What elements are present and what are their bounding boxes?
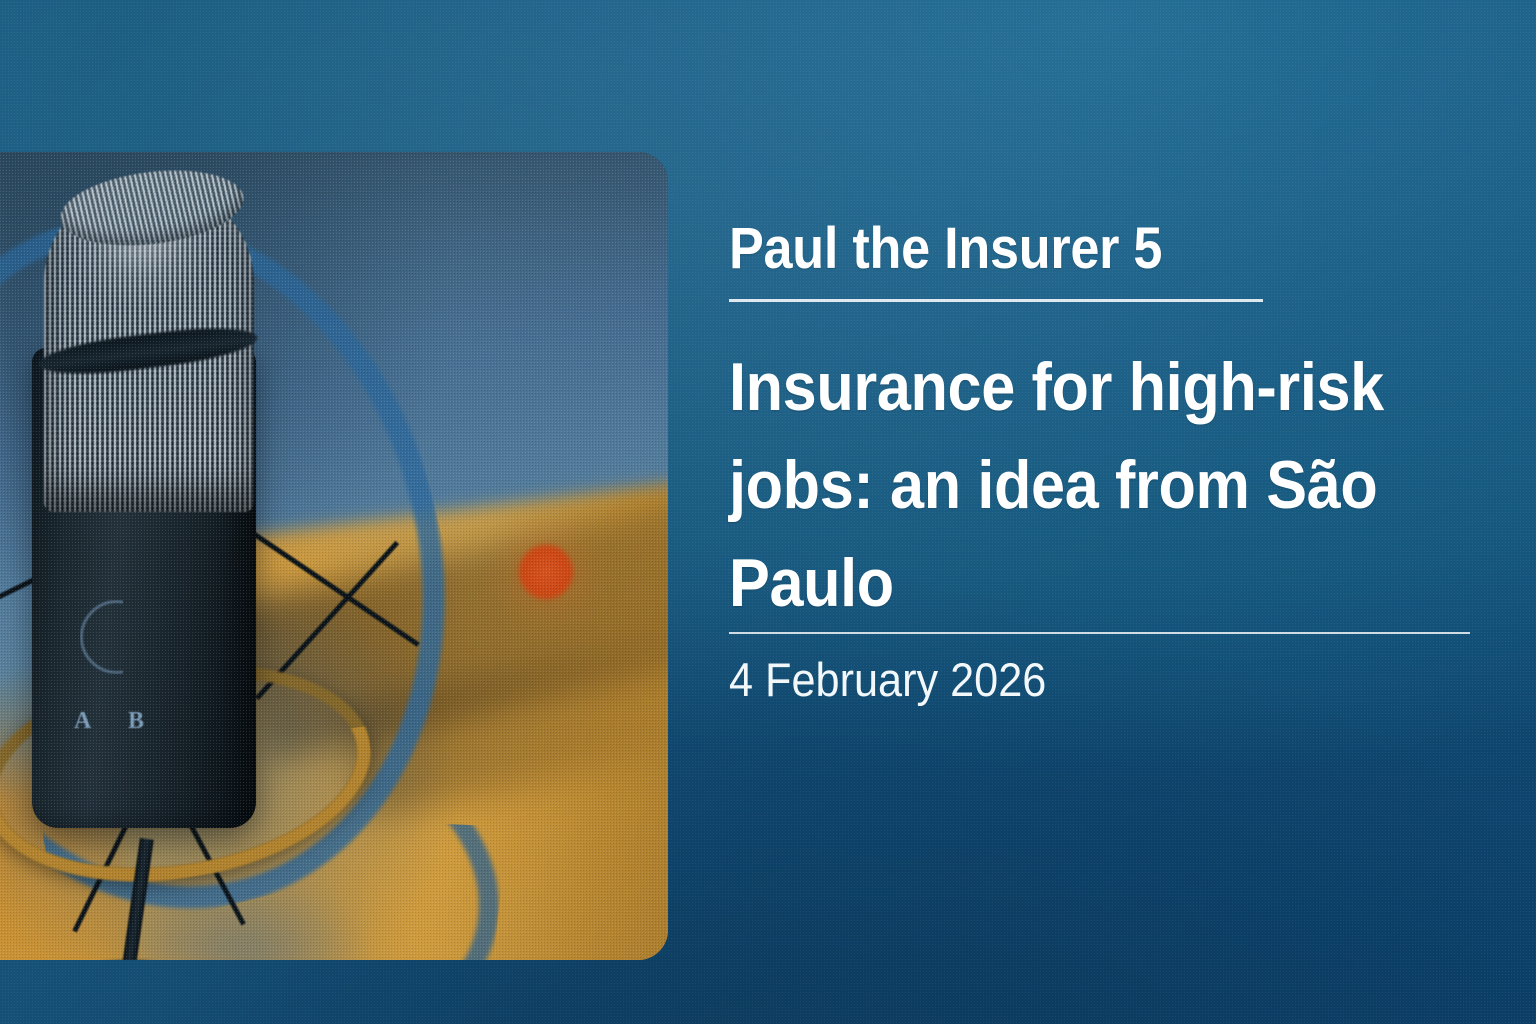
podcast-episode-title-card: A B Paul the Insurer 5 Insurance for hig… bbox=[0, 0, 1536, 1024]
artwork-film-grain bbox=[0, 152, 668, 960]
show-title: Paul the Insurer 5 bbox=[729, 218, 1162, 280]
episode-title: Insurance for high-risk jobs: an idea fr… bbox=[729, 338, 1458, 632]
divider-above-date bbox=[729, 632, 1470, 634]
divider-above-episode-title bbox=[729, 299, 1263, 302]
episode-date: 4 February 2026 bbox=[729, 650, 1046, 710]
episode-text-column: Paul the Insurer 5 Insurance for high-ri… bbox=[729, 0, 1489, 1024]
episode-artwork: A B bbox=[0, 152, 668, 960]
